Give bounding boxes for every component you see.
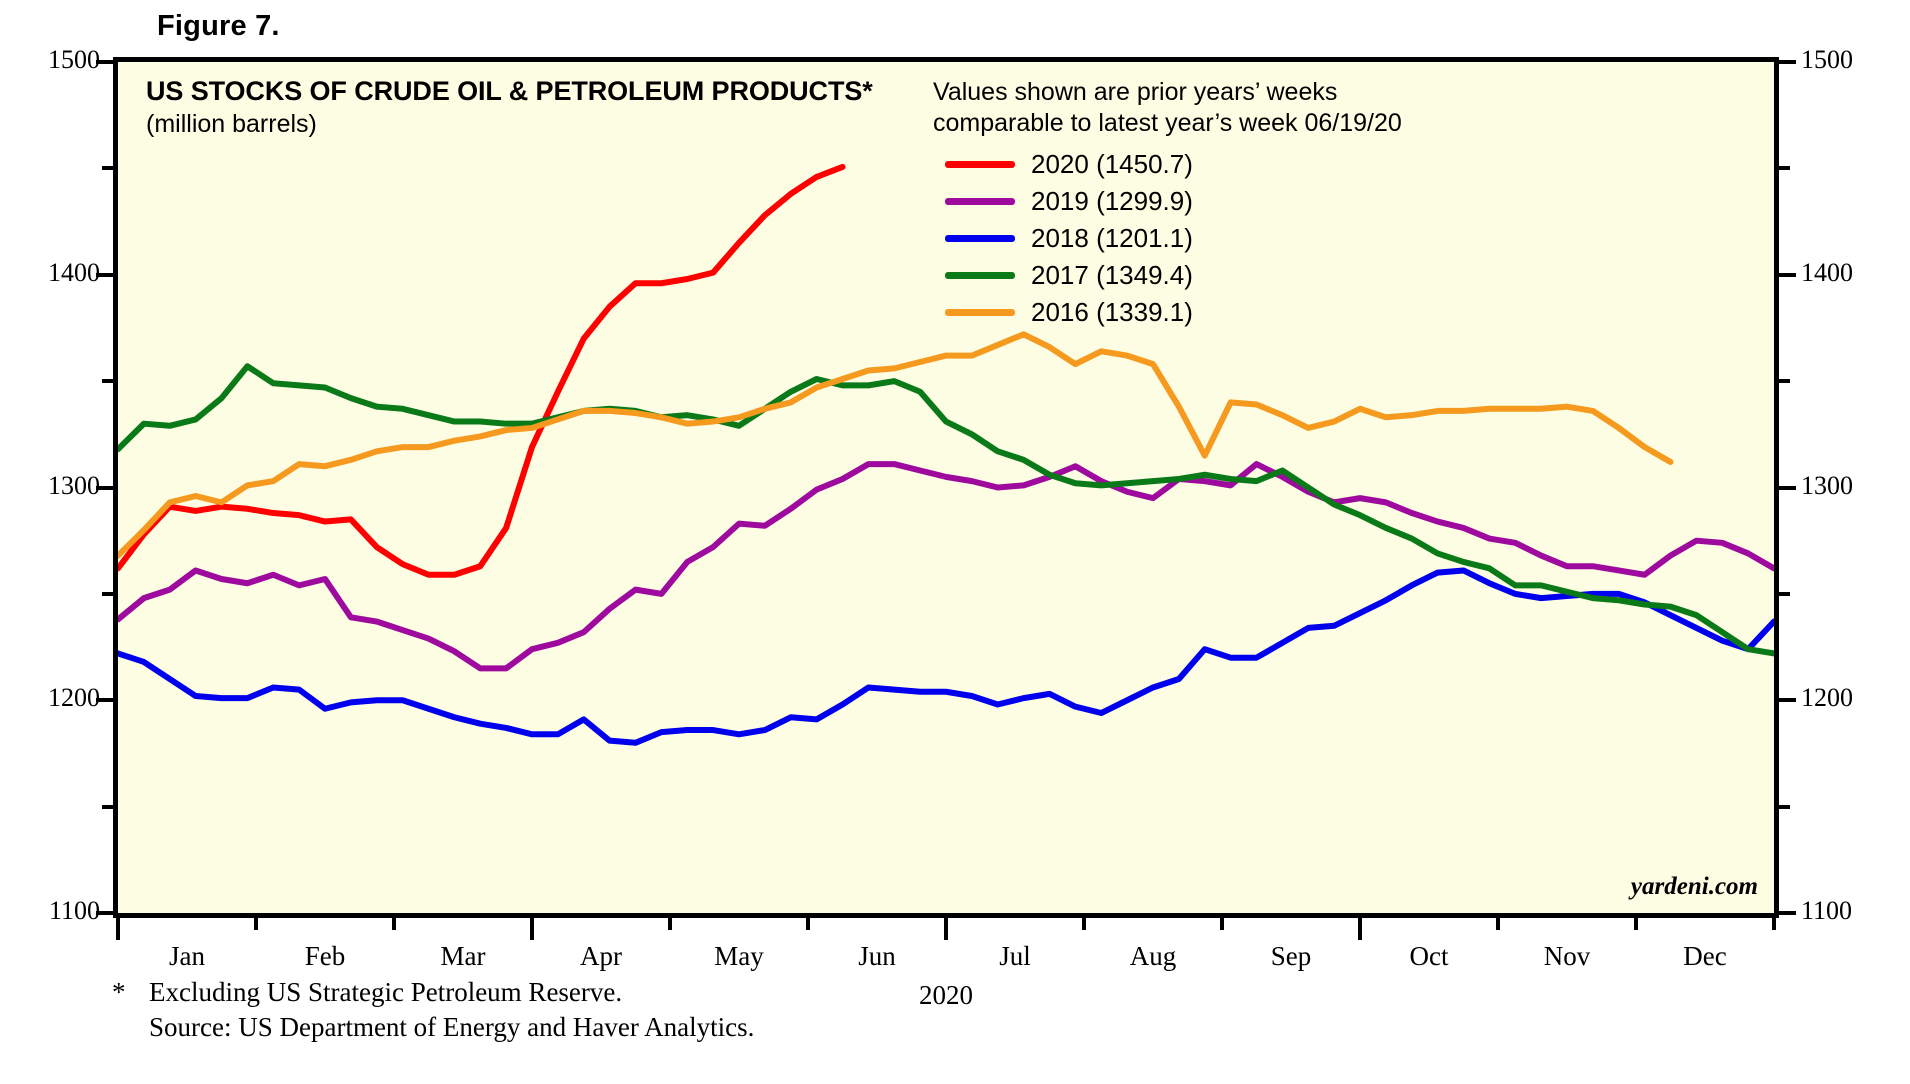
footnotes: * Excluding US Strategic Petroleum Reser… [112, 975, 754, 1045]
legend-item-label: 2019 (1299.9) [1031, 186, 1193, 217]
x-axis-tick [392, 918, 396, 930]
x-axis-tick [944, 918, 948, 940]
legend-item-label: 2016 (1339.1) [1031, 297, 1193, 328]
chart-title: US STOCKS OF CRUDE OIL & PETROLEUM PRODU… [146, 76, 873, 107]
x-axis-month-label: Sep [1246, 941, 1336, 972]
y-axis-major-tick [1779, 60, 1796, 64]
y-axis-major-tick [96, 486, 113, 490]
series-line-2020 [118, 167, 843, 575]
y-axis-minor-tick [1779, 379, 1790, 383]
legend-item-label: 2017 (1349.4) [1031, 260, 1193, 291]
x-axis-tick [1496, 918, 1500, 930]
x-axis-tick [1634, 918, 1638, 930]
x-axis-month-label: Mar [418, 941, 508, 972]
legend-swatch-icon [945, 272, 1015, 279]
legend-item-2017: 2017 (1349.4) [933, 257, 1402, 294]
footnote-marker: * [112, 975, 126, 1010]
series-line-2019 [118, 464, 1774, 668]
x-axis-tick [806, 918, 810, 930]
x-axis-month-label: Oct [1384, 941, 1474, 972]
legend-item-2020: 2020 (1450.7) [933, 146, 1402, 183]
chart-plot-area: US STOCKS OF CRUDE OIL & PETROLEUM PRODU… [113, 57, 1779, 918]
x-axis-tick [1082, 918, 1086, 930]
x-axis-title: 2020 [906, 980, 986, 1011]
y-axis-tick-label-left: 1400 [38, 258, 100, 288]
y-axis-major-tick [1779, 273, 1796, 277]
legend-item-label: 2018 (1201.1) [1031, 223, 1193, 254]
y-axis-major-tick [1779, 911, 1796, 915]
legend-note: Values shown are prior years’ weeks comp… [933, 77, 1402, 139]
series-line-2018 [118, 570, 1774, 742]
y-axis-tick-label-left: 1200 [38, 683, 100, 713]
y-axis-minor-tick [1779, 805, 1790, 809]
y-axis-minor-tick [1779, 592, 1790, 596]
y-axis-major-tick [96, 273, 113, 277]
legend-item-2018: 2018 (1201.1) [933, 220, 1402, 257]
x-axis-month-label: Jan [142, 941, 232, 972]
x-axis-month-label: Dec [1660, 941, 1750, 972]
x-axis-month-label: Nov [1522, 941, 1612, 972]
x-axis-month-label: Feb [280, 941, 370, 972]
chart-units-label: (million barrels) [146, 110, 317, 139]
x-axis-month-label: Aug [1108, 941, 1198, 972]
y-axis-major-tick [96, 60, 113, 64]
legend-swatch-icon [945, 198, 1015, 205]
y-axis-tick-label-right: 1500 [1801, 45, 1881, 75]
y-axis-tick-label-right: 1400 [1801, 258, 1881, 288]
x-axis-tick [1772, 918, 1776, 930]
y-axis-tick-label-right: 1100 [1801, 896, 1881, 926]
x-axis-month-label: Apr [556, 941, 646, 972]
legend-item-2016: 2016 (1339.1) [933, 294, 1402, 331]
x-axis-month-label: Jul [970, 941, 1060, 972]
legend-swatch-icon [945, 309, 1015, 316]
figure-label: Figure 7. [157, 10, 280, 43]
y-axis-minor-tick [102, 166, 113, 170]
footnote-line-1: Excluding US Strategic Petroleum Reserve… [149, 975, 754, 1010]
x-axis-tick [116, 918, 120, 940]
chart-legend: Values shown are prior years’ weeks comp… [933, 77, 1402, 331]
y-axis-tick-label-left: 1100 [38, 896, 100, 926]
y-axis-minor-tick [102, 592, 113, 596]
legend-swatch-icon [945, 161, 1015, 168]
y-axis-major-tick [96, 698, 113, 702]
x-axis-tick [530, 918, 534, 940]
legend-swatch-icon [945, 235, 1015, 242]
x-axis-month-label: May [694, 941, 784, 972]
y-axis-minor-tick [102, 379, 113, 383]
legend-note-line-2: comparable to latest year’s week 06/19/2… [933, 108, 1402, 139]
x-axis-month-label: Jun [832, 941, 922, 972]
watermark-yardeni: yardeni.com [1631, 873, 1758, 901]
x-axis-tick [668, 918, 672, 930]
y-axis-major-tick [1779, 698, 1796, 702]
legend-item-label: 2020 (1450.7) [1031, 149, 1193, 180]
legend-note-line-1: Values shown are prior years’ weeks [933, 77, 1402, 108]
x-axis-tick [1358, 918, 1362, 940]
y-axis-minor-tick [102, 805, 113, 809]
y-axis-tick-label-right: 1300 [1801, 471, 1881, 501]
legend-item-2019: 2019 (1299.9) [933, 183, 1402, 220]
y-axis-major-tick [1779, 486, 1796, 490]
footnote-line-2: Source: US Department of Energy and Have… [149, 1010, 754, 1045]
y-axis-minor-tick [1779, 166, 1790, 170]
x-axis-tick [254, 918, 258, 930]
y-axis-tick-label-left: 1300 [38, 471, 100, 501]
legend-items: 2020 (1450.7)2019 (1299.9)2018 (1201.1)2… [933, 146, 1402, 331]
y-axis-tick-label-right: 1200 [1801, 683, 1881, 713]
y-axis-major-tick [96, 911, 113, 915]
y-axis-tick-label-left: 1500 [38, 45, 100, 75]
x-axis-tick [1220, 918, 1224, 930]
